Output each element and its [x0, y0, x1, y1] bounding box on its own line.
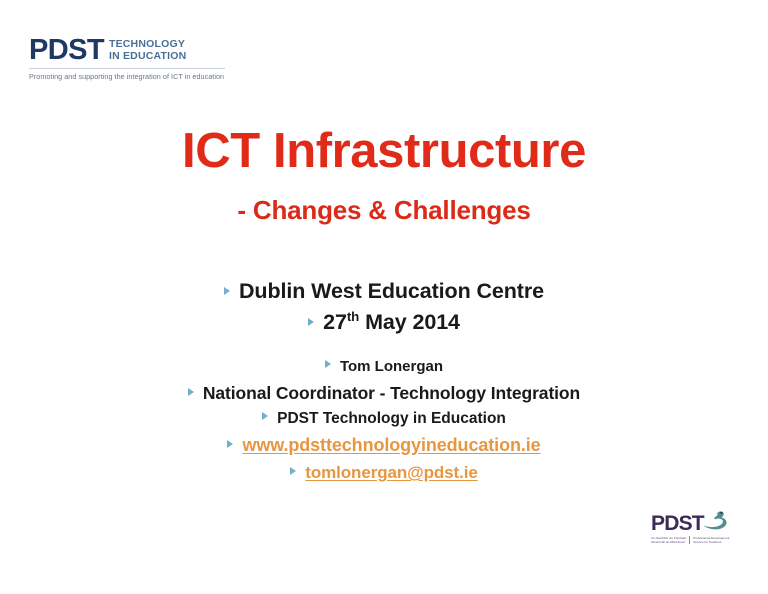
strapline-english-line-2: Service for Teachers — [693, 540, 729, 544]
slide-body-list: Dublin West Education Centre 27th May 20… — [0, 276, 768, 486]
presenter-name-label: Tom Lonergan — [340, 354, 443, 380]
slide-canvas: PDST TECHNOLOGY IN EDUCATION Promoting a… — [0, 0, 768, 594]
triangle-bullet-icon — [224, 287, 230, 295]
corporate-logo-strapline: An tSeirbhís um Fhorbairt Ghairmiúil do … — [651, 536, 755, 544]
pdst-swoosh-icon — [702, 510, 728, 534]
triangle-bullet-icon — [290, 467, 296, 475]
list-item-organisation: PDST Technology in Education — [0, 406, 768, 431]
logo-subtitle-line-1: TECHNOLOGY — [109, 38, 186, 50]
corporate-pdst-wordmark: PDST — [651, 513, 704, 534]
strapline-irish-line-2: Ghairmiúil do Mhúinteoirí — [651, 540, 686, 544]
date-month-year: May 2014 — [359, 310, 460, 334]
strapline-divider — [689, 536, 690, 544]
date-day: 27 — [323, 310, 347, 334]
triangle-bullet-icon — [325, 360, 331, 368]
presenter-role-label: National Coordinator - Technology Integr… — [203, 380, 580, 406]
organisation-label: PDST Technology in Education — [277, 406, 506, 431]
triangle-bullet-icon — [227, 440, 233, 448]
date-label: 27th May 2014 — [323, 307, 460, 338]
triangle-bullet-icon — [262, 412, 268, 420]
slide-title: ICT Infrastructure — [0, 124, 768, 178]
logo-tagline: Promoting and supporting the integration… — [29, 72, 229, 81]
list-item-website: www.pdsttechnologyineducation.ie — [0, 431, 768, 459]
venue-label: Dublin West Education Centre — [239, 276, 544, 307]
email-link[interactable]: tomlonergan@pdst.ie — [305, 459, 477, 486]
pdst-wordmark: PDST — [29, 36, 104, 65]
date-ordinal-suffix: th — [347, 309, 359, 324]
triangle-bullet-icon — [308, 318, 314, 326]
slide-subtitle: - Changes & Challenges — [0, 194, 768, 226]
body-spacer — [0, 338, 768, 354]
list-item-role: National Coordinator - Technology Integr… — [0, 380, 768, 406]
list-item-date: 27th May 2014 — [0, 307, 768, 338]
logo-subtitle-line-2: IN EDUCATION — [109, 50, 186, 62]
list-item-email: tomlonergan@pdst.ie — [0, 459, 768, 486]
pdst-corporate-logo: PDST An tSeirbhís um Fhorbairt Ghairmiúi… — [651, 513, 755, 544]
pdst-technology-in-education-logo: PDST TECHNOLOGY IN EDUCATION Promoting a… — [29, 36, 229, 81]
triangle-bullet-icon — [188, 388, 194, 396]
corporate-logo-wordmark-row: PDST — [651, 513, 755, 534]
list-item-presenter: Tom Lonergan — [0, 354, 768, 380]
logo-subtitle-block: TECHNOLOGY IN EDUCATION — [109, 36, 186, 62]
list-item-venue: Dublin West Education Centre — [0, 276, 768, 307]
logo-divider-line — [29, 68, 225, 69]
website-link[interactable]: www.pdsttechnologyineducation.ie — [242, 431, 540, 459]
strapline-english: Professional Development Service for Tea… — [693, 536, 729, 544]
logo-wordmark-row: PDST TECHNOLOGY IN EDUCATION — [29, 36, 229, 65]
strapline-irish: An tSeirbhís um Fhorbairt Ghairmiúil do … — [651, 536, 686, 544]
